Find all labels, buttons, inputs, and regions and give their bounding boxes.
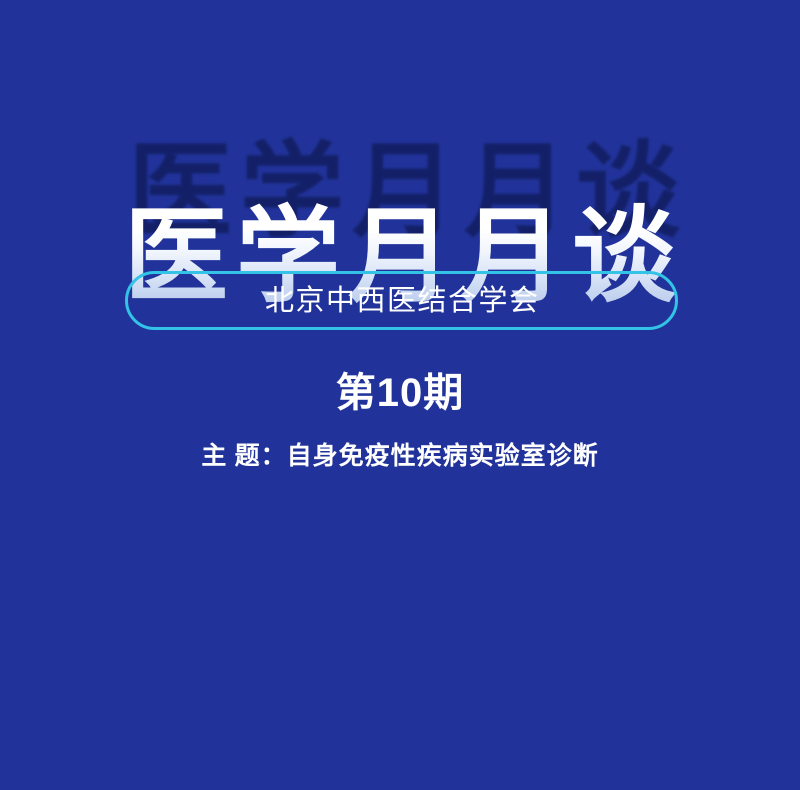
organization-name: 北京中西医结合学会 (263, 286, 539, 316)
poster-canvas: 医学月月谈 医学月月谈 北京中西医结合学会 第10期 主 题：自身免疫性疾病实验… (0, 0, 800, 790)
issue-number: 第10期 (0, 370, 800, 416)
organization-pill: 北京中西医结合学会 (125, 271, 678, 330)
topic-line: 主 题：自身免疫性疾病实验室诊断 (0, 440, 800, 474)
poster-title-block: 医学月月谈 医学月月谈 (0, 128, 800, 256)
